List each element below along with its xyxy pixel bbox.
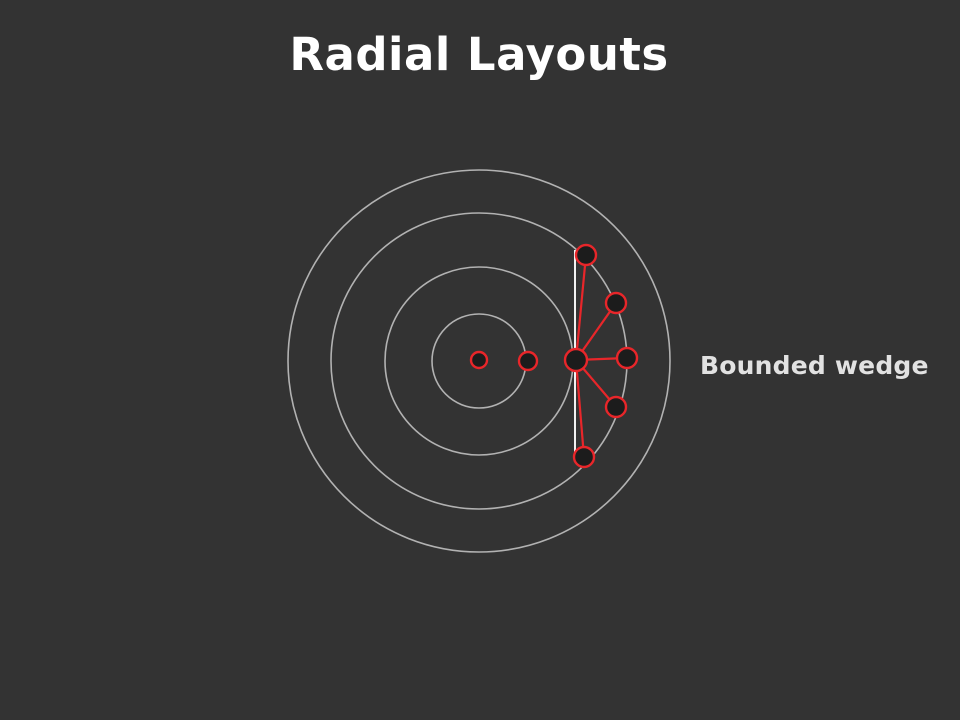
graph-node-hub[interactable]: [565, 349, 587, 371]
graph-node-c3[interactable]: [617, 348, 637, 368]
page-title: Radial Layouts: [289, 28, 668, 81]
graph-node-c4[interactable]: [606, 397, 626, 417]
graph-node-root[interactable]: [471, 352, 487, 368]
graph-node-c2[interactable]: [606, 293, 626, 313]
graph-node-n1[interactable]: [519, 352, 537, 370]
radial-layout-figure: Radial Layouts Bounded wedge: [0, 0, 960, 720]
graph-node-c1[interactable]: [576, 245, 596, 265]
layout-caption-label: Bounded wedge: [700, 351, 929, 380]
graph-node-c5[interactable]: [574, 447, 594, 467]
slide-canvas: Radial Layouts Bounded wedge: [0, 0, 960, 720]
